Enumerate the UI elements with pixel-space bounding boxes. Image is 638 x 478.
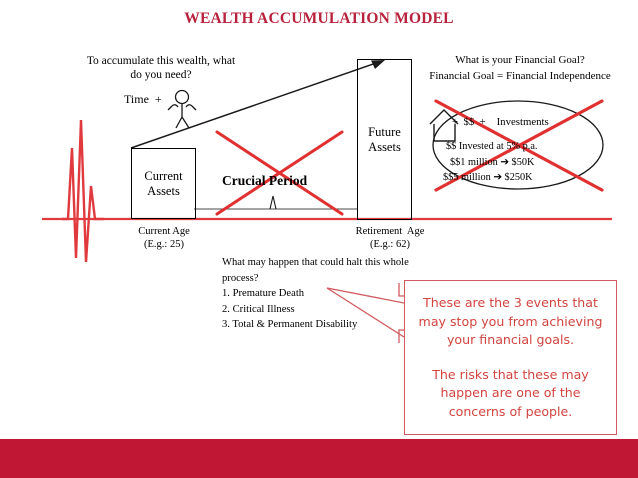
future-assets-box: Future Assets bbox=[357, 59, 412, 220]
crucial-period-bracket bbox=[270, 196, 276, 209]
person-icon bbox=[168, 91, 196, 129]
halt-process-block: What may happen that could halt this who… bbox=[222, 255, 422, 333]
callout-paragraph-1: These are the 3 events that may stop you… bbox=[405, 294, 616, 350]
current-age-label: Current Age (E.g.: 25) bbox=[104, 225, 224, 251]
current-assets-box: Current Assets bbox=[131, 148, 196, 219]
invest-example-1m: $$1 million ➔ $50K bbox=[450, 156, 534, 168]
goal-equation: Financial Goal = Financial Independence bbox=[412, 70, 628, 82]
invest-rate-line: $$ Invested at 5% p.a. bbox=[446, 141, 538, 152]
accumulate-question: To accumulate this wealth, what do you n… bbox=[86, 54, 236, 82]
page-title: WEALTH ACCUMULATION MODEL bbox=[0, 10, 638, 28]
current-assets-label: Current Assets bbox=[132, 169, 195, 199]
goal-formula: + $$ + Investments bbox=[452, 116, 549, 128]
footer-bar bbox=[0, 439, 638, 478]
halt-item-1: 1. Premature Death bbox=[222, 286, 422, 302]
goal-question: What is your Financial Goal? bbox=[420, 54, 620, 66]
halt-item-3: 3. Total & Permanent Disability bbox=[222, 317, 422, 333]
crucial-period-label: Crucial Period bbox=[222, 173, 307, 189]
slide-canvas: WEALTH ACCUMULATION MODEL To accumulate … bbox=[0, 0, 638, 478]
heartbeat-icon bbox=[62, 120, 104, 262]
retirement-age-label: Retirement Age (E.g.: 62) bbox=[330, 225, 450, 251]
time-label: Time + bbox=[124, 92, 162, 107]
risk-callout-box: These are the 3 events that may stop you… bbox=[404, 280, 617, 435]
invest-example-5m: $$5 million ➔ $250K bbox=[443, 171, 533, 183]
future-assets-label: Future Assets bbox=[358, 125, 411, 155]
halt-question: What may happen that could halt this who… bbox=[222, 255, 422, 286]
callout-paragraph-2: The risks that these may happen are one … bbox=[405, 366, 616, 422]
halt-item-2: 2. Critical Illness bbox=[222, 302, 422, 318]
